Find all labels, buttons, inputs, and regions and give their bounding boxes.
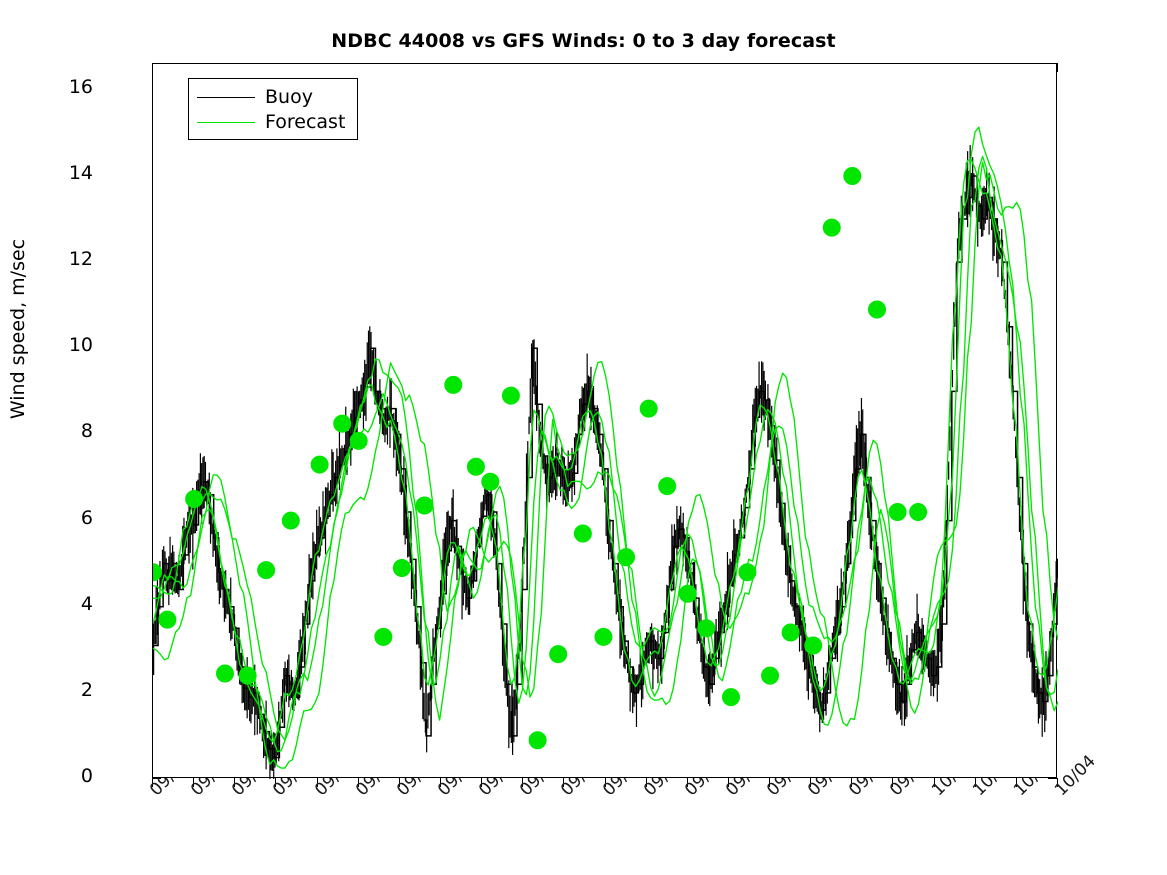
forecast-marker bbox=[159, 611, 176, 628]
forecast-marker bbox=[393, 559, 410, 576]
forecast-marker bbox=[844, 167, 861, 184]
forecast-marker bbox=[618, 549, 635, 566]
forecast-marker bbox=[529, 732, 546, 749]
forecast-marker bbox=[659, 478, 676, 495]
chart-figure: NDBC 44008 vs GFS Winds: 0 to 3 day fore… bbox=[0, 0, 1167, 875]
plot-area bbox=[152, 63, 1057, 778]
forecast-marker bbox=[350, 432, 367, 449]
forecast-marker bbox=[640, 400, 657, 417]
legend-item-buoy: Buoy bbox=[197, 85, 349, 110]
legend-swatch-buoy bbox=[197, 97, 255, 98]
forecast-marker bbox=[258, 562, 275, 579]
legend-swatch-forecast bbox=[197, 122, 255, 123]
forecast-marker bbox=[502, 387, 519, 404]
y-axis-tick-label: 2 bbox=[33, 681, 93, 700]
forecast-marker bbox=[574, 525, 591, 542]
forecast-marker bbox=[823, 219, 840, 236]
forecast-marker bbox=[722, 689, 739, 706]
forecast-marker bbox=[550, 646, 567, 663]
forecast-marker bbox=[334, 415, 351, 432]
y-axis-tick-label: 16 bbox=[33, 78, 93, 97]
page-title: NDBC 44008 vs GFS Winds: 0 to 3 day fore… bbox=[0, 30, 1167, 52]
forecast-marker bbox=[910, 503, 927, 520]
forecast-marker bbox=[762, 667, 779, 684]
y-axis-tick-label: 12 bbox=[33, 250, 93, 269]
forecast-marker bbox=[239, 667, 256, 684]
forecast-marker bbox=[311, 456, 328, 473]
legend-item-forecast: Forecast bbox=[197, 110, 349, 135]
forecast-marker bbox=[782, 624, 799, 641]
forecast-marker bbox=[698, 620, 715, 637]
chart-legend: Buoy Forecast bbox=[188, 78, 358, 140]
forecast-marker bbox=[805, 637, 822, 654]
forecast-marker bbox=[186, 491, 203, 508]
forecast-marker bbox=[869, 301, 886, 318]
forecast-marker bbox=[282, 512, 299, 529]
legend-label-forecast: Forecast bbox=[265, 113, 345, 132]
x-axis-tick-label: 10/04 bbox=[1051, 751, 1100, 800]
forecast-marker bbox=[216, 665, 233, 682]
forecast-marker bbox=[445, 376, 462, 393]
y-axis-tick-label: 10 bbox=[33, 336, 93, 355]
y-axis-tick-label: 8 bbox=[33, 422, 93, 441]
y-axis-tick-label: 14 bbox=[33, 164, 93, 183]
forecast-marker bbox=[482, 473, 499, 490]
y-axis-title: Wind speed, m/sec bbox=[7, 0, 29, 679]
y-axis-tick-label: 4 bbox=[33, 595, 93, 614]
forecast-marker bbox=[679, 585, 696, 602]
forecast-marker bbox=[595, 628, 612, 645]
forecast-marker bbox=[467, 458, 484, 475]
forecast-marker bbox=[889, 503, 906, 520]
legend-label-buoy: Buoy bbox=[265, 88, 313, 107]
y-axis-tick-label: 0 bbox=[33, 767, 93, 786]
y-axis-tick-label: 6 bbox=[33, 509, 93, 528]
forecast-marker bbox=[739, 564, 756, 581]
forecast-marker bbox=[416, 497, 433, 514]
plot-canvas bbox=[153, 64, 1058, 779]
forecast-marker bbox=[375, 628, 392, 645]
